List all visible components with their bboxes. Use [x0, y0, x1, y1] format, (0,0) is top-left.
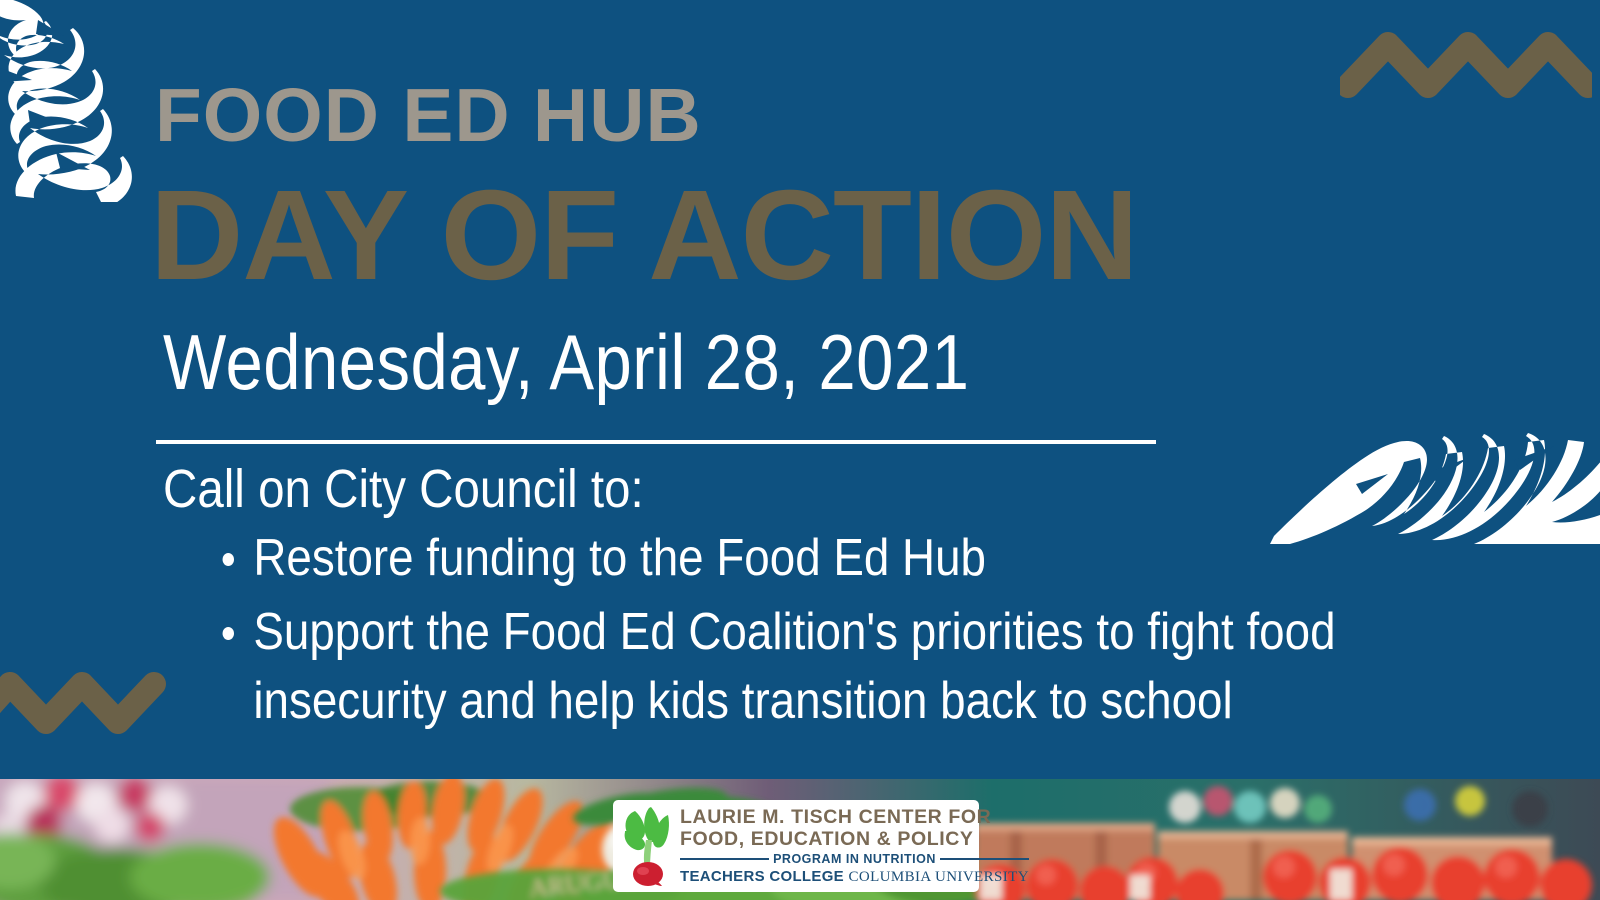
list-item: Restore funding to the Food Ed Hub — [212, 524, 1532, 594]
list-item: Support the Food Ed Coalition's prioriti… — [212, 598, 1532, 737]
logo-rule-left — [680, 858, 769, 861]
logo-text-block: LAURIE M. TISCH CENTER FOR FOOD, EDUCATI… — [677, 806, 1029, 886]
kicker-text: FOOD ED HUB — [155, 78, 702, 153]
page-title: DAY OF ACTION — [150, 172, 1138, 300]
zigzag-top-right-icon — [1340, 28, 1592, 100]
logo-line-3: PROGRAM IN NUTRITION — [773, 852, 936, 866]
poster-canvas: FOOD ED HUB DAY OF ACTION Wednesday, Apr… — [0, 0, 1600, 900]
divider — [156, 440, 1156, 444]
logo-columbia-university: COLUMBIA UNIVERSITY — [848, 869, 1029, 885]
radish-icon — [619, 806, 677, 886]
asks-list: Restore funding to the Food Ed Hub Suppo… — [212, 524, 1552, 741]
tisch-center-logo: LAURIE M. TISCH CENTER FOR FOOD, EDUCATI… — [613, 800, 979, 892]
logo-line-4: TEACHERS COLLEGE COLUMBIA UNIVERSITY — [680, 868, 1029, 886]
logo-line-1: LAURIE M. TISCH CENTER FOR — [680, 806, 1029, 828]
zigzag-bottom-left-icon — [0, 666, 172, 736]
call-to-action-label: Call on City Council to: — [163, 458, 644, 520]
event-date: Wednesday, April 28, 2021 — [163, 322, 969, 404]
logo-teachers-college: TEACHERS COLLEGE — [680, 868, 844, 885]
logo-line-2: FOOD, EDUCATION & POLICY — [680, 828, 1029, 850]
brush-stroke-right-icon — [1268, 396, 1600, 544]
logo-rule-right — [940, 858, 1029, 861]
logo-program-row: PROGRAM IN NUTRITION — [680, 852, 1029, 866]
